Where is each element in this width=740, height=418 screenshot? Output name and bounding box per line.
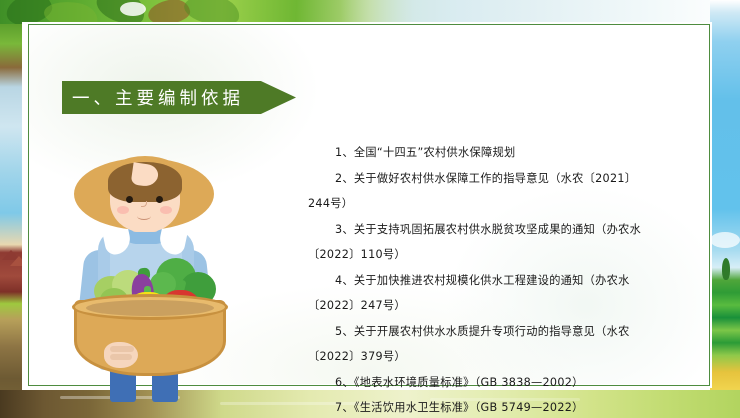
reference-line: 1、全国“十四五”农村供水保障规划 bbox=[308, 140, 700, 166]
farmer-mouth bbox=[137, 212, 151, 220]
leaf-highlight bbox=[120, 2, 146, 16]
reference-line: 〔2022〕379号） bbox=[308, 344, 700, 370]
farmer-right-cheek bbox=[160, 206, 172, 214]
vegetable-basket-inner bbox=[86, 300, 214, 316]
farmer-left-cheek bbox=[117, 206, 129, 214]
slide-canvas: 一、主要编制依据 bbox=[0, 0, 740, 418]
reference-line: 2、关于做好农村供水保障工作的指导意见（水农〔2021〕 bbox=[308, 166, 700, 192]
reference-line: 〔2022〕110号） bbox=[308, 242, 700, 268]
section-title-text: 一、主要编制依据 bbox=[62, 85, 244, 110]
farmer-illustration bbox=[52, 150, 252, 402]
left-scenery-strip bbox=[0, 24, 22, 418]
reference-line: 7、《生活饮用水卫生标准》（GB 5749—2022） bbox=[308, 395, 700, 418]
reference-line: 244号） bbox=[308, 191, 700, 217]
cloud-icon bbox=[710, 232, 740, 248]
farmer-right-eye bbox=[156, 196, 163, 203]
section-title-banner: 一、主要编制依据 bbox=[62, 81, 296, 114]
tree-icon bbox=[722, 258, 730, 280]
right-scenery-strip bbox=[710, 0, 740, 418]
reference-list: 1、全国“十四五”农村供水保障规划2、关于做好农村供水保障工作的指导意见（水农〔… bbox=[308, 140, 700, 418]
reference-line: 3、关于支持巩固拓展农村供水脱贫攻坚成果的通知（办农水 bbox=[308, 217, 700, 243]
farmer-finger bbox=[110, 354, 132, 360]
reference-line: 5、关于开展农村供水水质提升专项行动的指导意见（水农 bbox=[308, 319, 700, 345]
reference-line: 6、《地表水环境质量标准》（GB 3838—2002） bbox=[308, 370, 700, 396]
farmer-left-eye bbox=[126, 196, 133, 203]
farmer-finger bbox=[110, 346, 134, 352]
reference-line: 4、关于加快推进农村规模化供水工程建设的通知（办农水 bbox=[308, 268, 700, 294]
reference-line: 〔2022〕247号） bbox=[308, 293, 700, 319]
